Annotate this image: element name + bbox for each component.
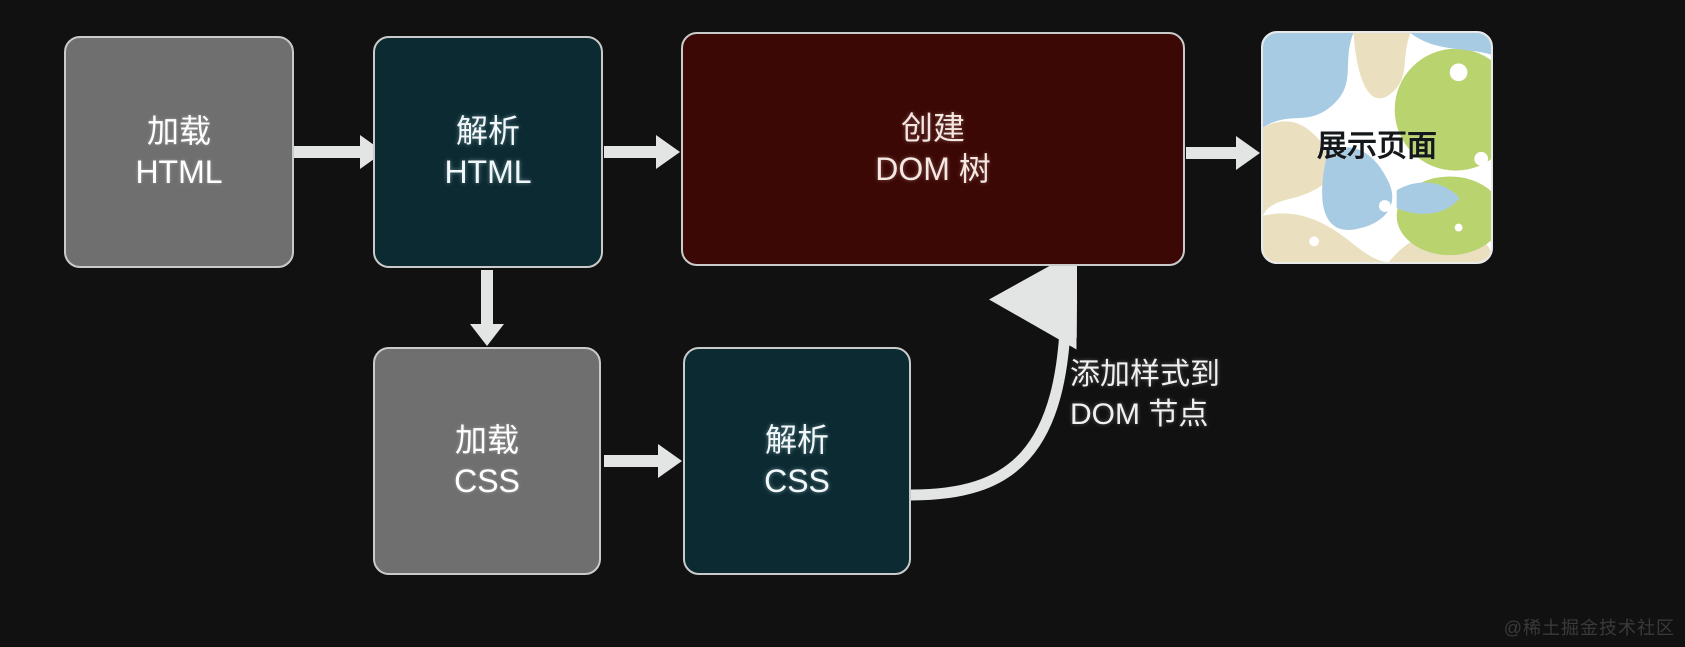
node-show-page-label: 展示页面 [1317, 128, 1437, 166]
node-load-html[interactable]: 加载 HTML [64, 36, 294, 268]
node-parse-css-line1: 解析 [765, 420, 829, 461]
node-load-html-line1: 加载 [147, 111, 211, 152]
edge-label-line1: 添加样式到 [1070, 355, 1310, 395]
curve-parse-css-to-create-dom [911, 300, 1066, 495]
watermark: @稀土掘金技术社区 [1504, 614, 1675, 640]
node-parse-html-line1: 解析 [456, 111, 520, 152]
diagram-canvas: 加载 HTML 解析 HTML 创建 DOM 树 [0, 0, 1685, 647]
node-parse-css-line2: CSS [764, 461, 830, 502]
node-load-css-line2: CSS [454, 461, 520, 502]
node-parse-html[interactable]: 解析 HTML [373, 36, 603, 268]
node-load-css[interactable]: 加载 CSS [373, 347, 601, 575]
node-load-css-line1: 加载 [455, 420, 519, 461]
node-create-dom-tree[interactable]: 创建 DOM 树 [681, 32, 1185, 266]
node-create-dom-line1: 创建 [901, 108, 965, 149]
edge-label-line2: DOM 节点 [1070, 395, 1310, 435]
arrow-parse-html-to-load-css [481, 270, 493, 326]
node-create-dom-line2: DOM 树 [875, 149, 991, 190]
arrow-parse-html-to-create-dom [604, 146, 658, 158]
arrow-create-dom-to-show-page [1186, 147, 1238, 159]
node-parse-css[interactable]: 解析 CSS [683, 347, 911, 575]
node-load-html-line2: HTML [135, 152, 222, 193]
arrow-load-css-to-parse-css [604, 455, 660, 467]
arrow-load-html-to-parse-html [294, 146, 362, 158]
edge-label-add-style-to-dom: 添加样式到 DOM 节点 [1070, 355, 1310, 435]
node-parse-html-line2: HTML [444, 152, 531, 193]
node-show-page[interactable]: 展示页面 [1261, 31, 1493, 264]
